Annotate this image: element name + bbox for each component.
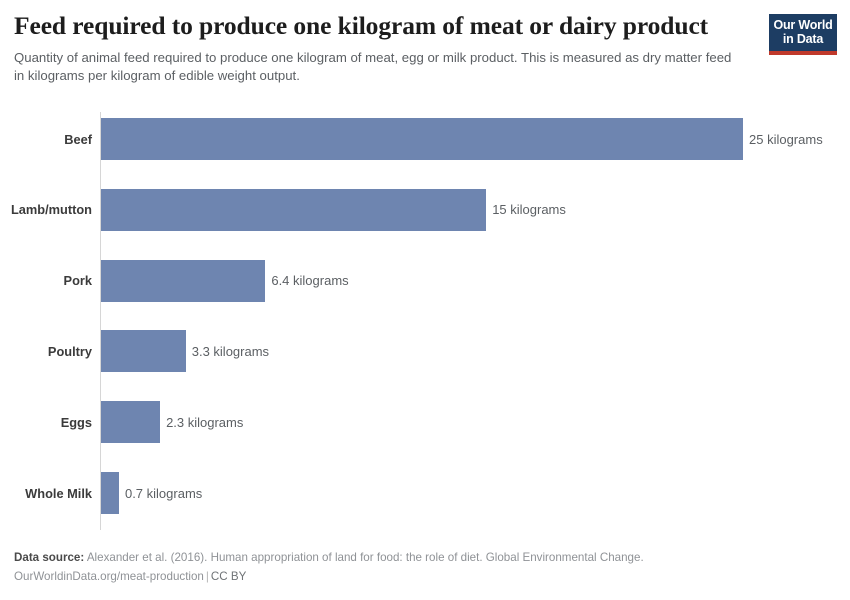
- bar-category-label: Pork: [0, 260, 92, 302]
- chart-title: Feed required to produce one kilogram of…: [14, 12, 754, 41]
- logo-line-2: in Data: [773, 33, 833, 47]
- y-axis-line: [100, 112, 101, 530]
- bar-row: Lamb/mutton15 kilograms: [0, 189, 850, 231]
- bar-value-label: 0.7 kilograms: [125, 472, 202, 514]
- data-source-text: Alexander et al. (2016). Human appropria…: [87, 551, 644, 564]
- chart-subtitle: Quantity of animal feed required to prod…: [14, 49, 744, 86]
- owid-url-link[interactable]: OurWorldinData.org/meat-production: [14, 570, 204, 583]
- bar-row: Pork6.4 kilograms: [0, 260, 850, 302]
- footer-link-line: OurWorldinData.org/meat-production|CC BY: [14, 567, 814, 586]
- plot-area: Beef25 kilogramsLamb/mutton15 kilogramsP…: [0, 108, 850, 533]
- bar-category-label: Eggs: [0, 401, 92, 443]
- bar-category-label: Whole Milk: [0, 472, 92, 514]
- bar-row: Beef25 kilograms: [0, 118, 850, 160]
- bar-row: Whole Milk0.7 kilograms: [0, 472, 850, 514]
- bar-row: Eggs2.3 kilograms: [0, 401, 850, 443]
- footer-source-line: Data source: Alexander et al. (2016). Hu…: [14, 548, 814, 567]
- bar-value-label: 15 kilograms: [492, 189, 566, 231]
- our-world-in-data-logo[interactable]: Our World in Data: [769, 14, 837, 55]
- bar-value-label: 3.3 kilograms: [192, 330, 269, 372]
- chart-container: Feed required to produce one kilogram of…: [0, 0, 850, 600]
- logo-line-1: Our World: [773, 19, 833, 33]
- footer-separator: |: [204, 570, 211, 583]
- license-label[interactable]: CC BY: [211, 570, 246, 583]
- bar-row: Poultry3.3 kilograms: [0, 330, 850, 372]
- bar[interactable]: [101, 260, 265, 302]
- bar[interactable]: [101, 330, 186, 372]
- bar[interactable]: [101, 118, 743, 160]
- bar-category-label: Poultry: [0, 330, 92, 372]
- bar-value-label: 25 kilograms: [749, 118, 823, 160]
- bar-category-label: Lamb/mutton: [0, 189, 92, 231]
- bar[interactable]: [101, 401, 160, 443]
- bar[interactable]: [101, 472, 119, 514]
- bar-category-label: Beef: [0, 118, 92, 160]
- bar[interactable]: [101, 189, 486, 231]
- chart-header: Feed required to produce one kilogram of…: [14, 12, 754, 86]
- chart-footer: Data source: Alexander et al. (2016). Hu…: [14, 548, 814, 586]
- bar-value-label: 2.3 kilograms: [166, 401, 243, 443]
- bar-value-label: 6.4 kilograms: [271, 260, 348, 302]
- data-source-label: Data source:: [14, 551, 84, 564]
